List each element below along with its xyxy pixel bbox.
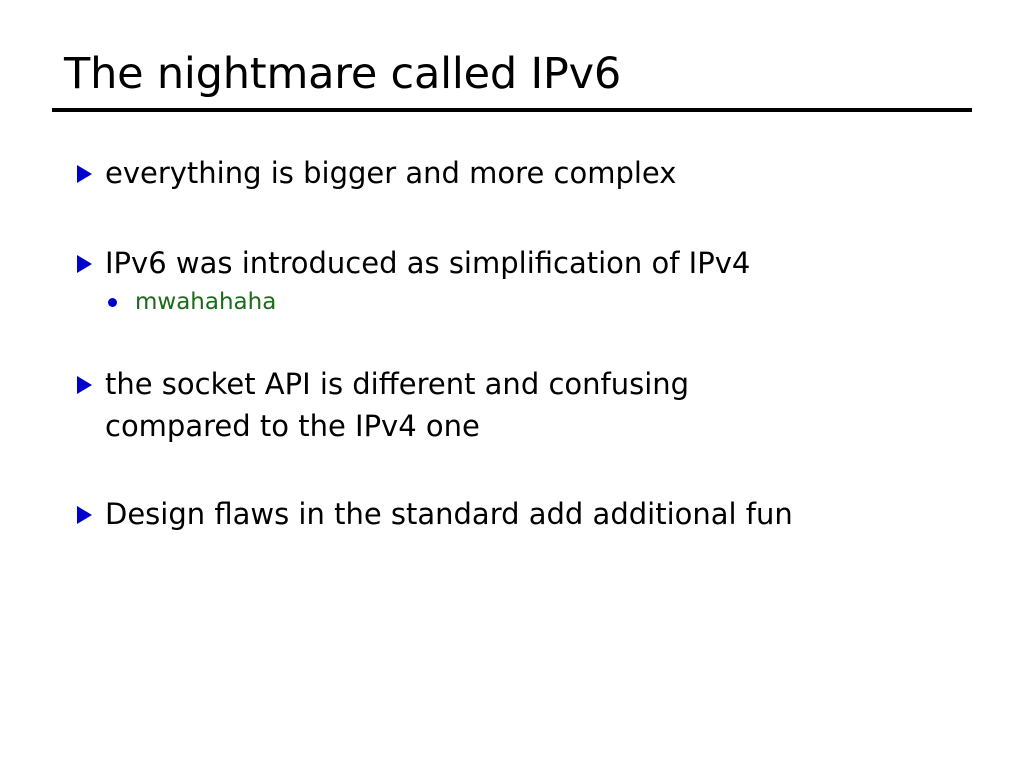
- slide-title-block: The nightmare called IPv6: [52, 48, 972, 112]
- bullet-item-4-label: Design flaws in the standard add additio…: [105, 493, 972, 535]
- bullet-item-1: everything is bigger and more complex: [72, 152, 972, 194]
- bullet-group-4: Design flaws in the standard add additio…: [72, 493, 972, 535]
- bullet-item-1-label: everything is bigger and more complex: [105, 152, 972, 194]
- bullet-item-3-label-line1: the socket API is different and confusin…: [105, 363, 972, 405]
- triangle-right-icon: [77, 506, 92, 524]
- spacer-2: [72, 319, 972, 363]
- slide-body-list: everything is bigger and more complex IP…: [72, 152, 972, 535]
- triangle-right-icon: [77, 165, 92, 183]
- page-title: The nightmare called IPv6: [52, 48, 972, 100]
- spacer-3: [72, 447, 972, 493]
- bullet-item-3: the socket API is different and confusin…: [72, 363, 972, 447]
- bullet-item-2-label: IPv6 was introduced as simplification of…: [105, 242, 972, 284]
- triangle-right-icon: [77, 255, 92, 273]
- triangle-right-icon: [77, 376, 92, 394]
- title-underline-rule: [52, 108, 972, 112]
- bullet-item-4: Design flaws in the standard add additio…: [72, 493, 972, 535]
- spacer-1: [72, 194, 972, 242]
- bullet-group-2: IPv6 was introduced as simplification of…: [72, 242, 972, 319]
- bullet-group-1: everything is bigger and more complex: [72, 152, 972, 194]
- slide-canvas: The nightmare called IPv6 everything is …: [0, 0, 1024, 768]
- bullet-group-3: the socket API is different and confusin…: [72, 363, 972, 447]
- dot-icon: [108, 298, 117, 307]
- bullet-item-2: IPv6 was introduced as simplification of…: [72, 242, 972, 284]
- sub-bullet-item-mwahahaha-label: mwahahaha: [135, 289, 276, 315]
- sub-bullet-item-mwahahaha: mwahahaha: [72, 286, 972, 319]
- bullet-item-3-label-line2: compared to the IPv4 one: [105, 405, 972, 447]
